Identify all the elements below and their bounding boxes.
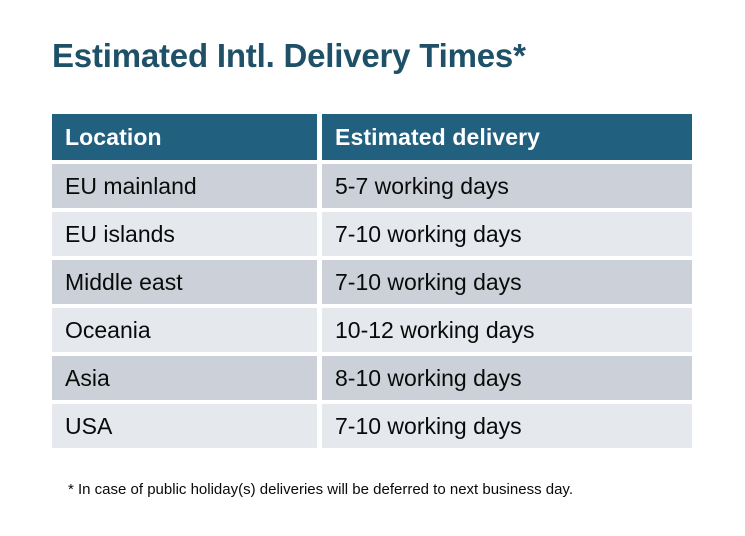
cell-estimated-delivery: 7-10 working days	[322, 212, 692, 256]
table-header-row: Location Estimated delivery	[52, 114, 692, 160]
cell-estimated-delivery: 10-12 working days	[322, 308, 692, 352]
table-row: Asia 8-10 working days	[52, 356, 692, 400]
cell-estimated-delivery: 8-10 working days	[322, 356, 692, 400]
cell-location: EU mainland	[52, 164, 317, 208]
cell-location: Oceania	[52, 308, 317, 352]
cell-location: Asia	[52, 356, 317, 400]
column-header-estimated-delivery: Estimated delivery	[322, 114, 692, 160]
page-title: Estimated Intl. Delivery Times*	[52, 36, 526, 76]
table-row: USA 7-10 working days	[52, 404, 692, 448]
cell-location: USA	[52, 404, 317, 448]
column-header-location: Location	[52, 114, 317, 160]
delivery-times-table: Location Estimated delivery EU mainland …	[52, 114, 692, 448]
table-row: EU mainland 5-7 working days	[52, 164, 692, 208]
delivery-times-page: Estimated Intl. Delivery Times* Location…	[0, 0, 745, 536]
table-row: EU islands 7-10 working days	[52, 212, 692, 256]
cell-estimated-delivery: 7-10 working days	[322, 260, 692, 304]
cell-estimated-delivery: 5-7 working days	[322, 164, 692, 208]
footnote-text: * In case of public holiday(s) deliverie…	[68, 480, 573, 500]
cell-location: EU islands	[52, 212, 317, 256]
cell-estimated-delivery: 7-10 working days	[322, 404, 692, 448]
table-row: Oceania 10-12 working days	[52, 308, 692, 352]
cell-location: Middle east	[52, 260, 317, 304]
table-row: Middle east 7-10 working days	[52, 260, 692, 304]
